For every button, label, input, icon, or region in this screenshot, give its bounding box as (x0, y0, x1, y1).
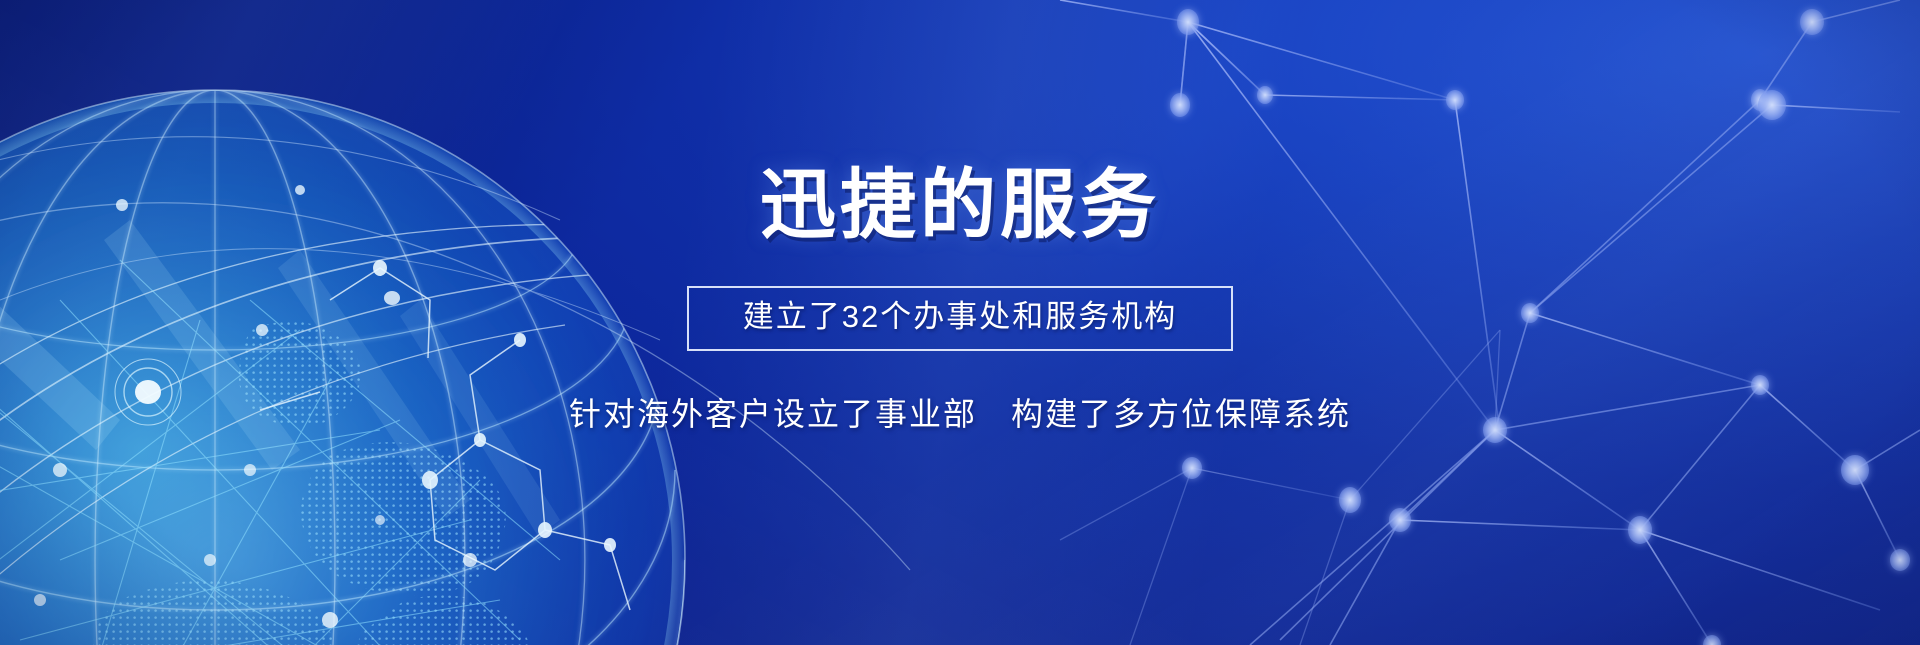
background-vignette (0, 0, 1920, 645)
hero-banner: 迅捷的服务 建立了32个办事处和服务机构 针对海外客户设立了事业部 构建了多方位… (0, 0, 1920, 645)
